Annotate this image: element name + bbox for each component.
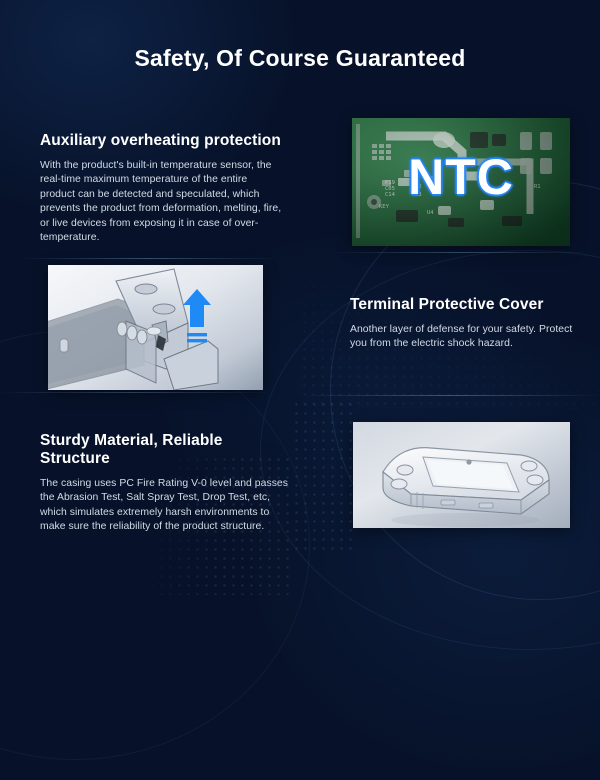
- safety-feature-page: Safety, Of Course Guaranteed Auxiliary o…: [0, 0, 600, 600]
- section-body-terminal-cover: Another layer of defense for your safety…: [350, 323, 588, 352]
- pcb-ntc-photo: P19C05C14 KEY2223 U4R1 NTC: [352, 118, 570, 246]
- section-title-terminal-cover: Terminal Protective Cover: [350, 296, 588, 314]
- section-body-overheating: With the product's built-in temperature …: [40, 159, 284, 245]
- terminal-cover-diagram: [48, 265, 263, 390]
- terminal-cover-illustration: [48, 265, 263, 390]
- section-title-overheating: Auxiliary overheating protection: [40, 132, 284, 150]
- section-sturdy-material: Sturdy Material, Reliable Structure The …: [40, 432, 290, 535]
- page-title: Safety, Of Course Guaranteed: [0, 45, 600, 72]
- section-body-sturdy-material: The casing uses PC Fire Rating V-0 level…: [40, 477, 290, 535]
- section-title-sturdy-material: Sturdy Material, Reliable Structure: [40, 432, 290, 468]
- ntc-overlay-label: NTC: [352, 152, 570, 202]
- section-auxiliary-overheating-protection: Auxiliary overheating protection With th…: [40, 132, 284, 245]
- section-terminal-protective-cover: Terminal Protective Cover Another layer …: [350, 296, 588, 352]
- product-casing-render: [353, 422, 570, 528]
- product-casing-illustration: [353, 422, 570, 528]
